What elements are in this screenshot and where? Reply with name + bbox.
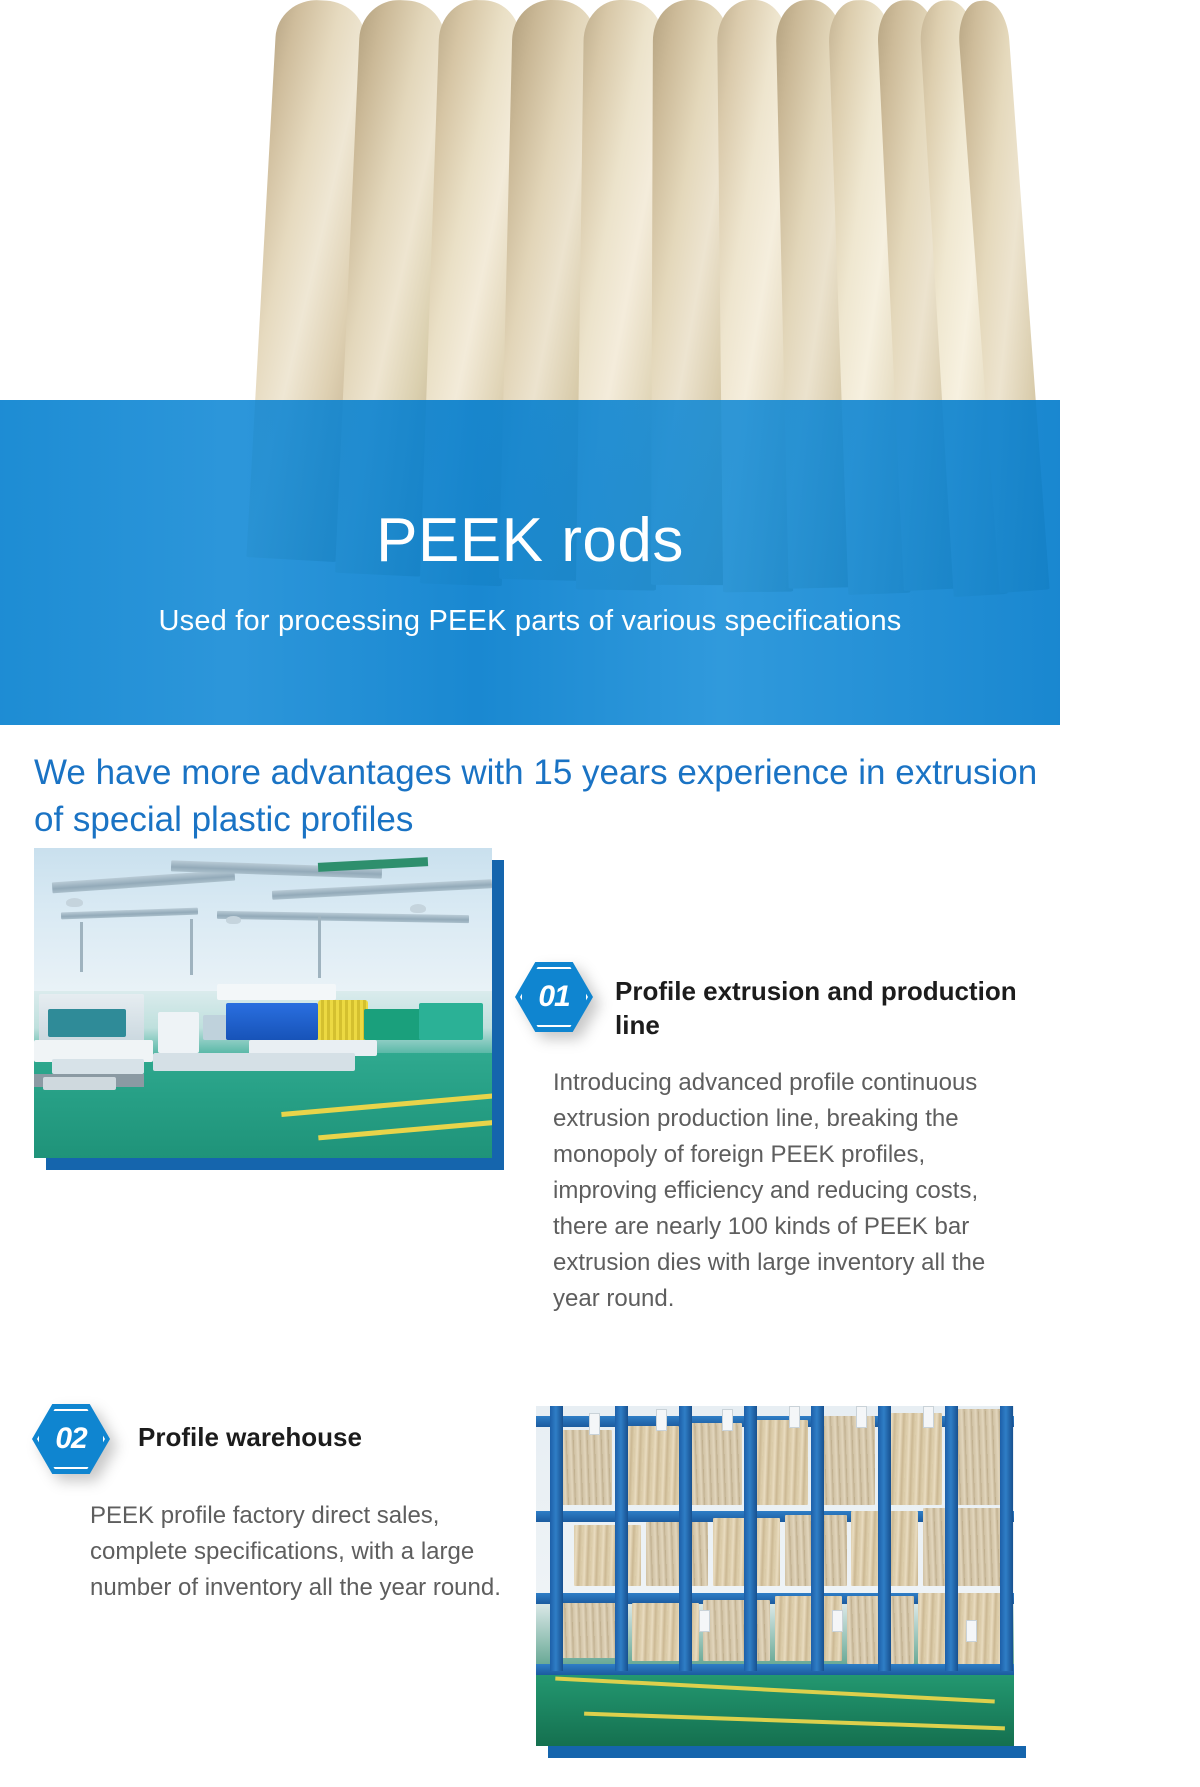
feature-02-number: 02 — [55, 1422, 86, 1456]
feature-02-header: 02 Profile warehouse — [32, 1404, 532, 1474]
feature-01-body: Introducing advanced profile continuous … — [553, 1065, 1031, 1317]
advantage-heading: We have more advantages with 15 years ex… — [34, 750, 1044, 843]
hero-text-group: PEEK rods Used for processing PEEK parts… — [0, 400, 1060, 725]
hero-subtitle: Used for processing PEEK parts of variou… — [159, 605, 902, 638]
feature-02-block: 02 Profile warehouse PEEK profile factor… — [32, 1404, 532, 1606]
feature-01-block: 01 Profile extrusion and production line… — [515, 962, 1050, 1317]
hero-title: PEEK rods — [376, 507, 684, 575]
feature-01-header: 01 Profile extrusion and production line — [515, 962, 1050, 1043]
feature-01-title: Profile extrusion and production line — [615, 962, 1045, 1043]
hero-banner: PEEK rods Used for processing PEEK parts… — [0, 0, 1060, 725]
feature-02-title: Profile warehouse — [138, 1404, 362, 1454]
feature-02-body: PEEK profile factory direct sales, compl… — [90, 1498, 520, 1606]
feature-01-image — [34, 848, 492, 1158]
hexagon-badge-icon: 02 — [32, 1404, 110, 1474]
feature-02-image — [536, 1406, 1014, 1746]
feature-01-number: 01 — [538, 980, 569, 1014]
product-detail-page: PEEK rods Used for processing PEEK parts… — [0, 0, 1200, 1787]
hexagon-badge-icon: 01 — [515, 962, 593, 1032]
